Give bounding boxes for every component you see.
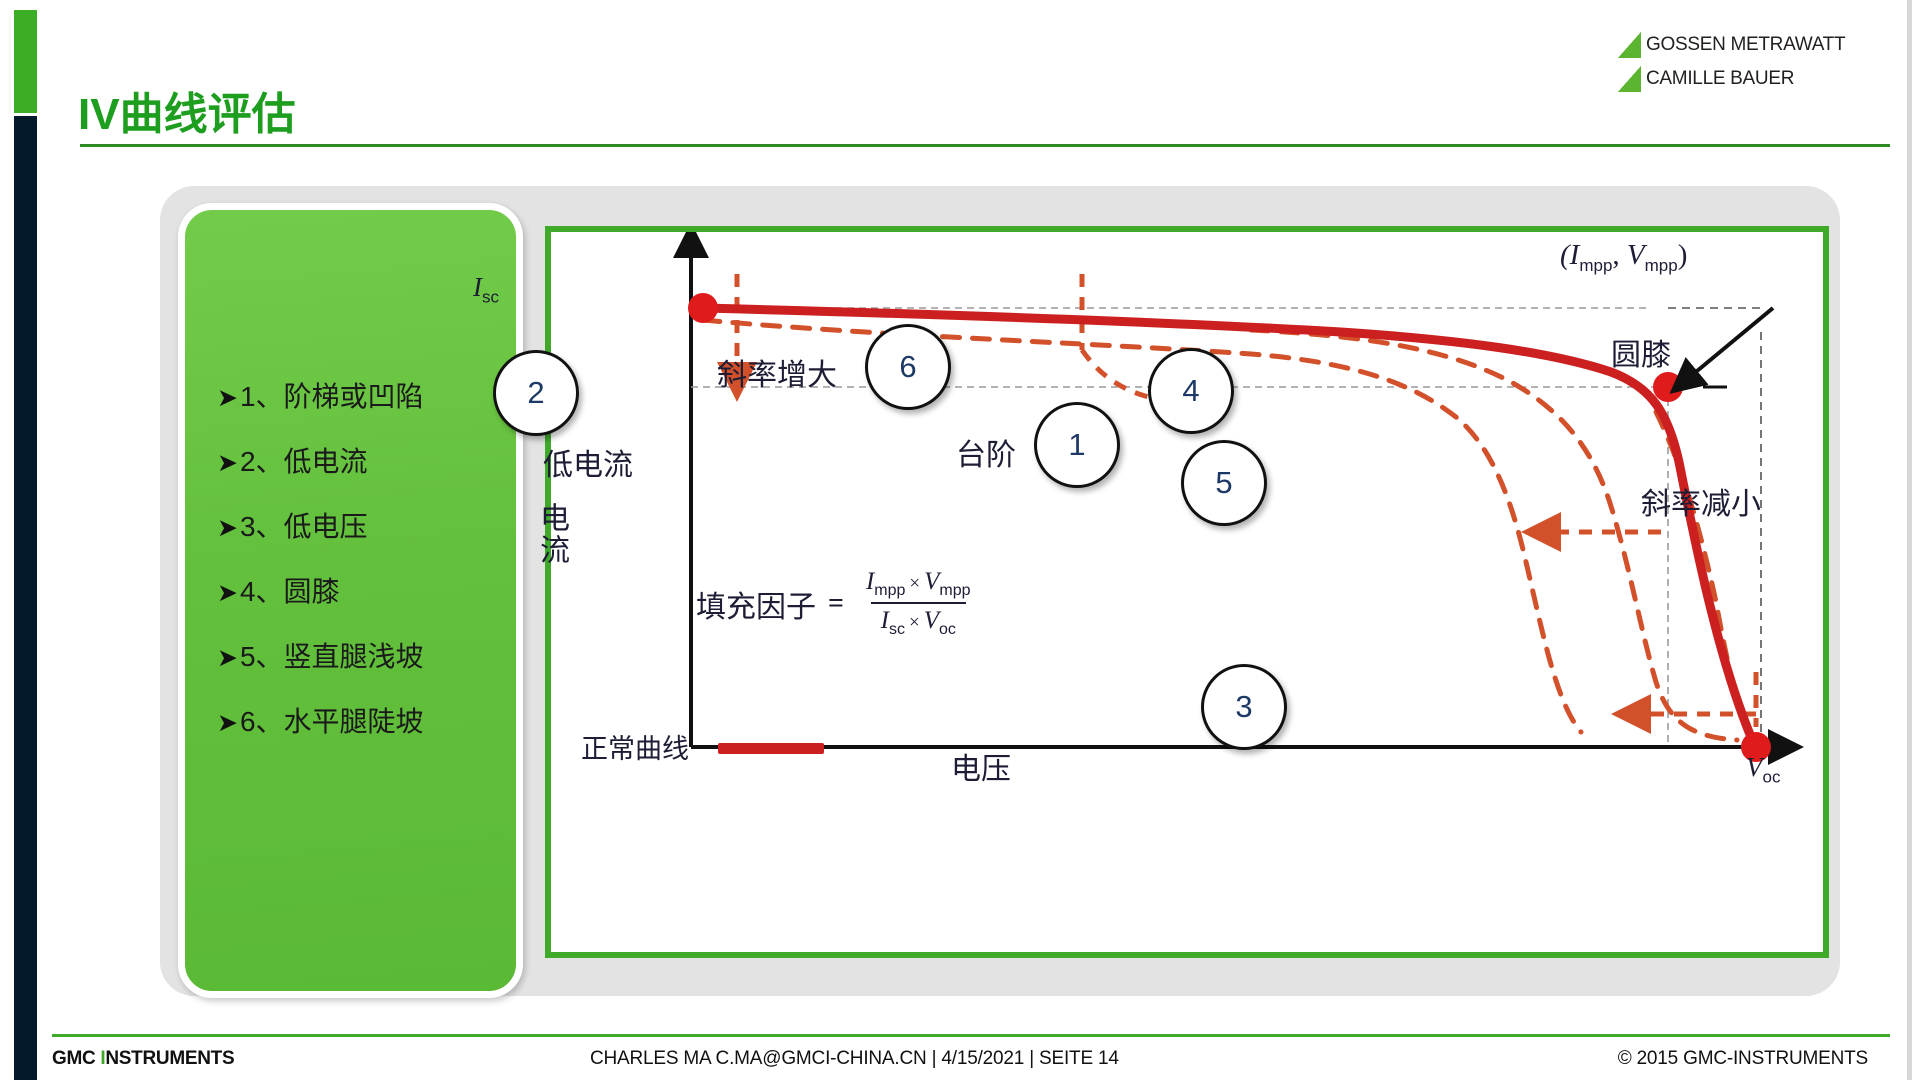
iv-curve-figure: Isc Voc 电流 电压 (Impp, Vmpp) 圆膝 斜率增大 斜率减小 … [545, 226, 1829, 958]
arrow-bullet-icon: ➤ [217, 451, 238, 476]
formula-lhs: 填充因子 [696, 582, 816, 626]
formula-fraction: Impp×Vmpp Isc×Voc [856, 568, 981, 639]
footer-brand-gmc: GMC [52, 1048, 100, 1069]
legend-label: 正常曲线 [581, 727, 689, 766]
y-axis-title: 电流 [529, 502, 573, 566]
annotation-step: 台阶 [956, 430, 1016, 474]
footer-author-meta: CHARLES MA C.MA@GMCI-CHINA.CN | 4/15/202… [590, 1048, 1119, 1070]
label-isc: Isc [473, 272, 499, 307]
fill-factor-formula: 填充因子 = Impp×Vmpp Isc×Voc [696, 568, 981, 639]
accent-stripe-green [14, 10, 37, 113]
logo-camille-bauer: CAMILLE BAUER [1618, 62, 1868, 96]
arrow-bullet-icon: ➤ [217, 516, 238, 541]
list-item-label: 3、低电压 [240, 505, 368, 545]
annotation-slope-increase: 斜率增大 [717, 350, 837, 394]
list-item: ➤ 3、低电压 [217, 505, 516, 545]
marker-isc [688, 293, 718, 323]
footer-copyright: © 2015 GMC-INSTRUMENTS [1618, 1048, 1868, 1070]
formula-equals: = [828, 588, 844, 620]
footer-divider [52, 1034, 1890, 1037]
formula-numerator: Impp×Vmpp [856, 568, 981, 602]
list-item-label: 2、低电流 [240, 440, 368, 480]
footer-brand: GMC INSTRUMENTS [52, 1048, 234, 1070]
fault-list-panel: ➤ 1、阶梯或凹陷 ➤ 2、低电流 ➤ 3、低电压 ➤ 4、圆膝 ➤ 5、竖直腿… [178, 203, 523, 998]
annotation-slope-decrease: 斜率减小 [1641, 479, 1761, 523]
logo-label: CAMILLE BAUER [1646, 68, 1794, 90]
list-item-label: 5、竖直腿浅坡 [240, 635, 424, 675]
callout-5[interactable]: 5 [1181, 440, 1267, 526]
logo-label: GOSSEN METRAWATT [1646, 34, 1845, 56]
callout-1[interactable]: 1 [1034, 402, 1120, 488]
list-item-label: 4、圆膝 [240, 570, 340, 610]
right-edge-bar [1907, 0, 1912, 1080]
list-item: ➤ 2、低电流 [217, 440, 516, 480]
brand-logos: GOSSEN METRAWATT CAMILLE BAUER [1618, 28, 1868, 96]
arrow-bullet-icon: ➤ [217, 581, 238, 606]
annotation-round-knee: 圆膝 [1611, 330, 1671, 374]
annotation-mpp-coordinates: (Impp, Vmpp) [1560, 239, 1687, 276]
arrow-bullet-icon: ➤ [217, 711, 238, 736]
label-voc: Voc [1746, 752, 1780, 787]
accent-stripe-dark [14, 116, 37, 1080]
footer-brand-nstruments: NSTRUMENTS [105, 1048, 234, 1069]
legend-swatch [718, 743, 824, 754]
callout-4[interactable]: 4 [1148, 348, 1234, 434]
list-item: ➤ 6、水平腿陡坡 [217, 700, 516, 740]
logo-gossen-metrawatt: GOSSEN METRAWATT [1618, 28, 1868, 62]
triangle-icon [1618, 32, 1641, 58]
callout-3[interactable]: 3 [1201, 664, 1287, 750]
list-item: ➤ 1、阶梯或凹陷 [217, 375, 516, 415]
annotation-low-current: 低电流 [543, 440, 633, 484]
callout-2[interactable]: 2 [493, 350, 579, 436]
list-item: ➤ 4、圆膝 [217, 570, 516, 610]
x-axis-title: 电压 [951, 744, 1011, 788]
marker-mpp [1653, 372, 1683, 402]
arrow-bullet-icon: ➤ [217, 646, 238, 671]
list-item: ➤ 5、竖直腿浅坡 [217, 635, 516, 675]
list-item-label: 6、水平腿陡坡 [240, 700, 424, 740]
arrow-bullet-icon: ➤ [217, 386, 238, 411]
triangle-icon [1618, 66, 1641, 92]
title-underline [80, 144, 1890, 147]
formula-denominator: Isc×Voc [871, 602, 966, 639]
callout-6[interactable]: 6 [865, 324, 951, 410]
page-title: IV曲线评估 [78, 78, 296, 142]
list-item-label: 1、阶梯或凹陷 [240, 375, 424, 415]
